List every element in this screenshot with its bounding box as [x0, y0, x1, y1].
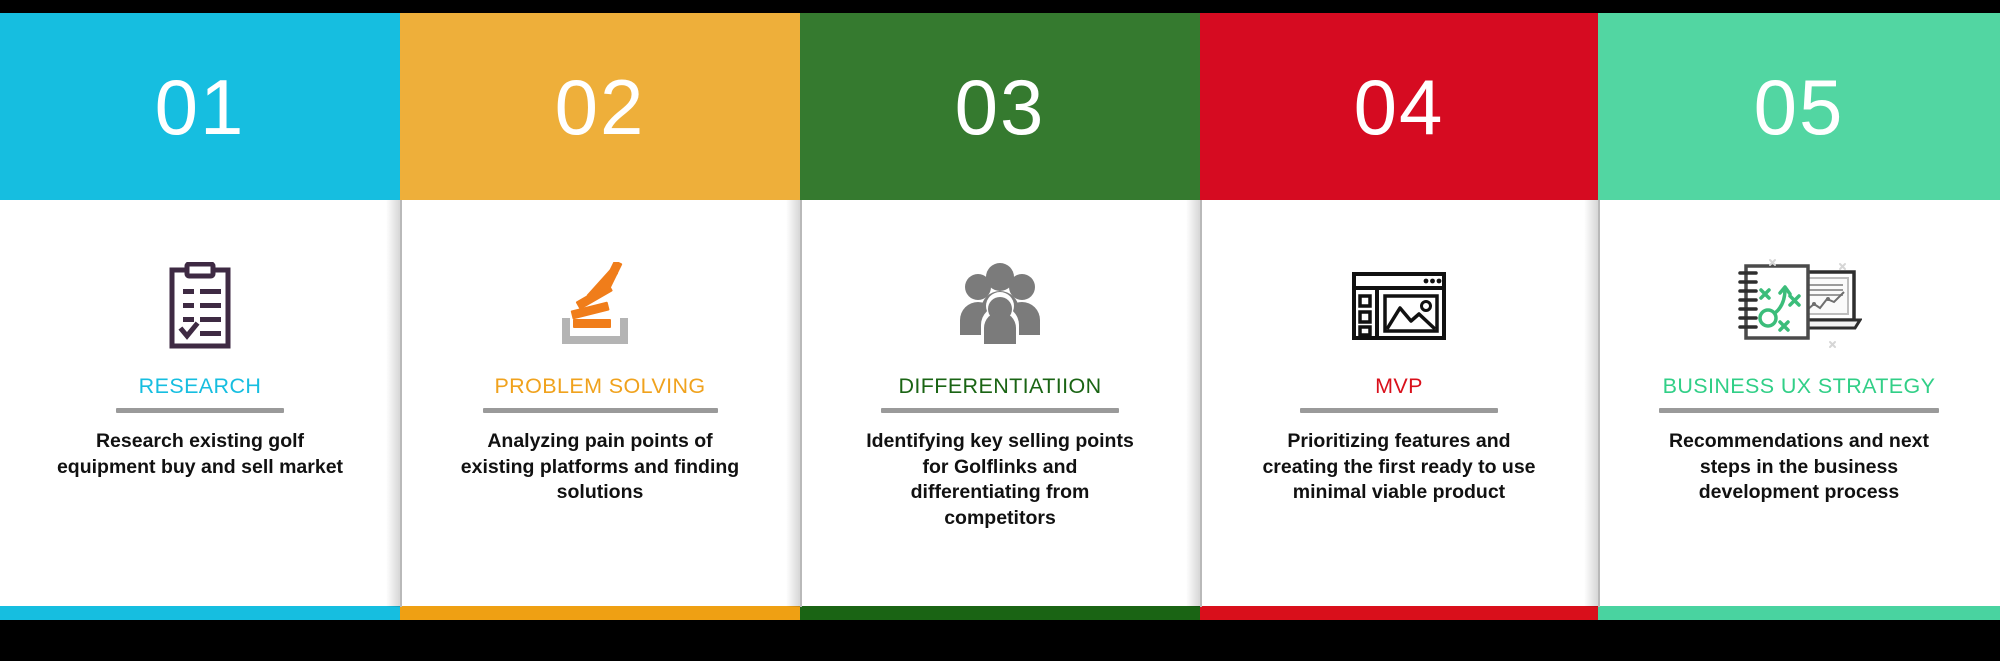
card-description-02: Analyzing pain points of existing platfo… [455, 429, 745, 506]
card-body-03: DIFFERENTIATIION Identifying key selling… [800, 200, 1200, 620]
title-rule-03 [881, 408, 1119, 413]
card-number-01: 01 [155, 68, 246, 146]
clipboard-checklist-icon [163, 242, 237, 370]
card-body-04: MVP Prioritizing features and creating t… [1200, 200, 1598, 620]
process-card-02[interactable]: 02 PROBLEM SOLVING [400, 13, 800, 620]
rising-bars-tray-icon [557, 242, 643, 370]
group-of-people-icon [954, 242, 1046, 370]
card-number-04: 04 [1354, 68, 1445, 146]
card-title-04: MVP [1375, 374, 1423, 399]
process-card-04[interactable]: 04 [1200, 13, 1598, 620]
card-description-03: Identifying key selling points for Golfl… [855, 429, 1145, 532]
card-number-03: 03 [955, 68, 1046, 146]
card-description-01: Research existing golf equipment buy and… [55, 429, 345, 480]
card-body-01: RESEARCH Research existing golf equipmen… [0, 200, 400, 620]
card-title-03: DIFFERENTIATIION [898, 374, 1101, 399]
card-header-02: 02 [400, 13, 800, 200]
process-card-03[interactable]: 03 [800, 13, 1200, 620]
card-number-05: 05 [1754, 68, 1845, 146]
card-body-02: PROBLEM SOLVING Analyzing pain points of… [400, 200, 800, 620]
title-rule-01 [116, 408, 284, 413]
process-card-05[interactable]: 05 [1598, 13, 2000, 620]
process-card-01[interactable]: 01 RESEA [0, 13, 400, 620]
card-title-02: PROBLEM SOLVING [494, 374, 705, 399]
card-header-05: 05 [1598, 13, 2000, 200]
card-footer-accent-04 [1200, 606, 1598, 620]
card-footer-accent-02 [400, 606, 800, 620]
card-body-05: BUSINESS UX STRATEGY Recommendations and… [1598, 200, 2000, 620]
card-title-01: RESEARCH [139, 374, 262, 399]
card-number-02: 02 [555, 68, 646, 146]
title-rule-05 [1659, 408, 1939, 413]
card-title-05: BUSINESS UX STRATEGY [1663, 374, 1936, 399]
card-footer-accent-01 [0, 606, 400, 620]
card-header-03: 03 [800, 13, 1200, 200]
card-header-04: 04 [1200, 13, 1598, 200]
card-description-04: Prioritizing features and creating the f… [1254, 429, 1544, 506]
title-rule-04 [1300, 408, 1498, 413]
card-footer-accent-03 [800, 606, 1200, 620]
slide-stage: 01 RESEA [0, 0, 2000, 661]
browser-wireframe-icon [1351, 242, 1447, 370]
title-rule-02 [483, 408, 718, 413]
card-description-05: Recommendations and next steps in the bu… [1654, 429, 1944, 506]
process-steps-slide: 01 RESEA [0, 13, 2000, 620]
card-header-01: 01 [0, 13, 400, 200]
notebook-strategy-laptop-icon [1736, 242, 1862, 370]
card-footer-accent-05 [1598, 606, 2000, 620]
